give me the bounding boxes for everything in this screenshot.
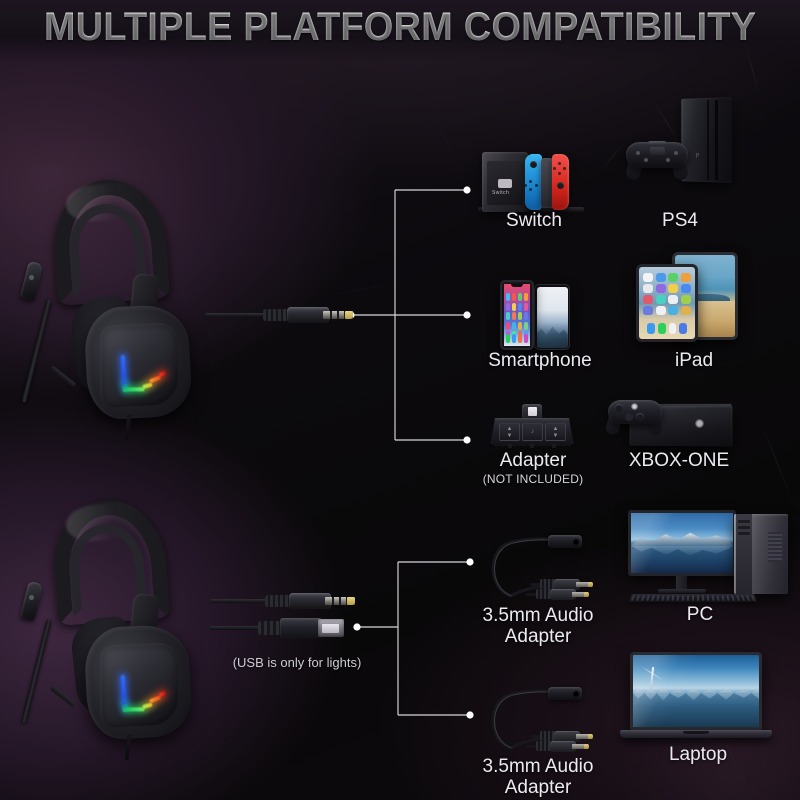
label-smartphone: Smartphone [470,350,610,371]
ps4-console-icon: ᵖ [624,98,736,190]
label-xbox-one: XBOX-ONE [616,450,742,471]
desktop-pc-icon [628,508,796,616]
label-audio-adapter-top: 3.5mm Audio Adapter [458,605,618,647]
rgb-light-strip [113,353,171,404]
smartphone-icon [494,278,586,354]
audio-splitter-icon-top [482,530,586,606]
label-laptop: Laptop [648,744,748,765]
node-adapter [463,436,470,443]
node-smartphone [463,311,470,318]
microphone-boom-joint [50,365,77,387]
microphone-boom [21,299,51,403]
headset-3.5mm-plug-bottom [210,590,358,612]
label-adapter: Adapter [478,450,588,471]
nintendo-switch-icon: Switch [478,148,586,212]
splitter-plug-headphone [526,740,582,752]
microphone-capsule [20,261,44,302]
node-audio-adapter-top [466,558,473,565]
label-adapter-note: (NOT INCLUDED) [468,472,598,486]
headset-3.5mm-plug-top [205,304,353,326]
label-ps4: PS4 [630,210,730,231]
product-infographic: MULTIPLE PLATFORM COMPATIBILITY [0,0,800,800]
label-pc: PC [652,604,748,625]
node-audio-adapter-bottom [466,711,473,718]
audio-splitter-icon-bottom [482,682,586,758]
gaming-headset-top [8,178,208,428]
splitter-plug-headphone [526,588,582,600]
gaming-headset-bottom [8,498,208,748]
ipad-tablet-icon [634,252,746,348]
xbox-audio-adapter-icon: ▲▼ ♪ ▲▼ [490,404,574,448]
splitter-female-jack [548,687,582,700]
splitter-female-jack [548,535,582,548]
headset-usb-a-plug [210,616,360,640]
rgb-light-strip [113,673,171,724]
microphone-boom [21,619,51,723]
page-title: MULTIPLE PLATFORM COMPATIBILITY [20,5,780,50]
microphone-boom-joint [50,685,77,707]
label-switch: Switch [478,210,590,231]
laptop-icon [620,652,772,744]
label-ipad: iPad [640,350,748,371]
usb-lights-note: (USB is only for lights) [192,655,402,670]
microphone-capsule [20,581,44,622]
node-switch [463,186,470,193]
label-audio-adapter-bottom: 3.5mm Audio Adapter [458,756,618,798]
